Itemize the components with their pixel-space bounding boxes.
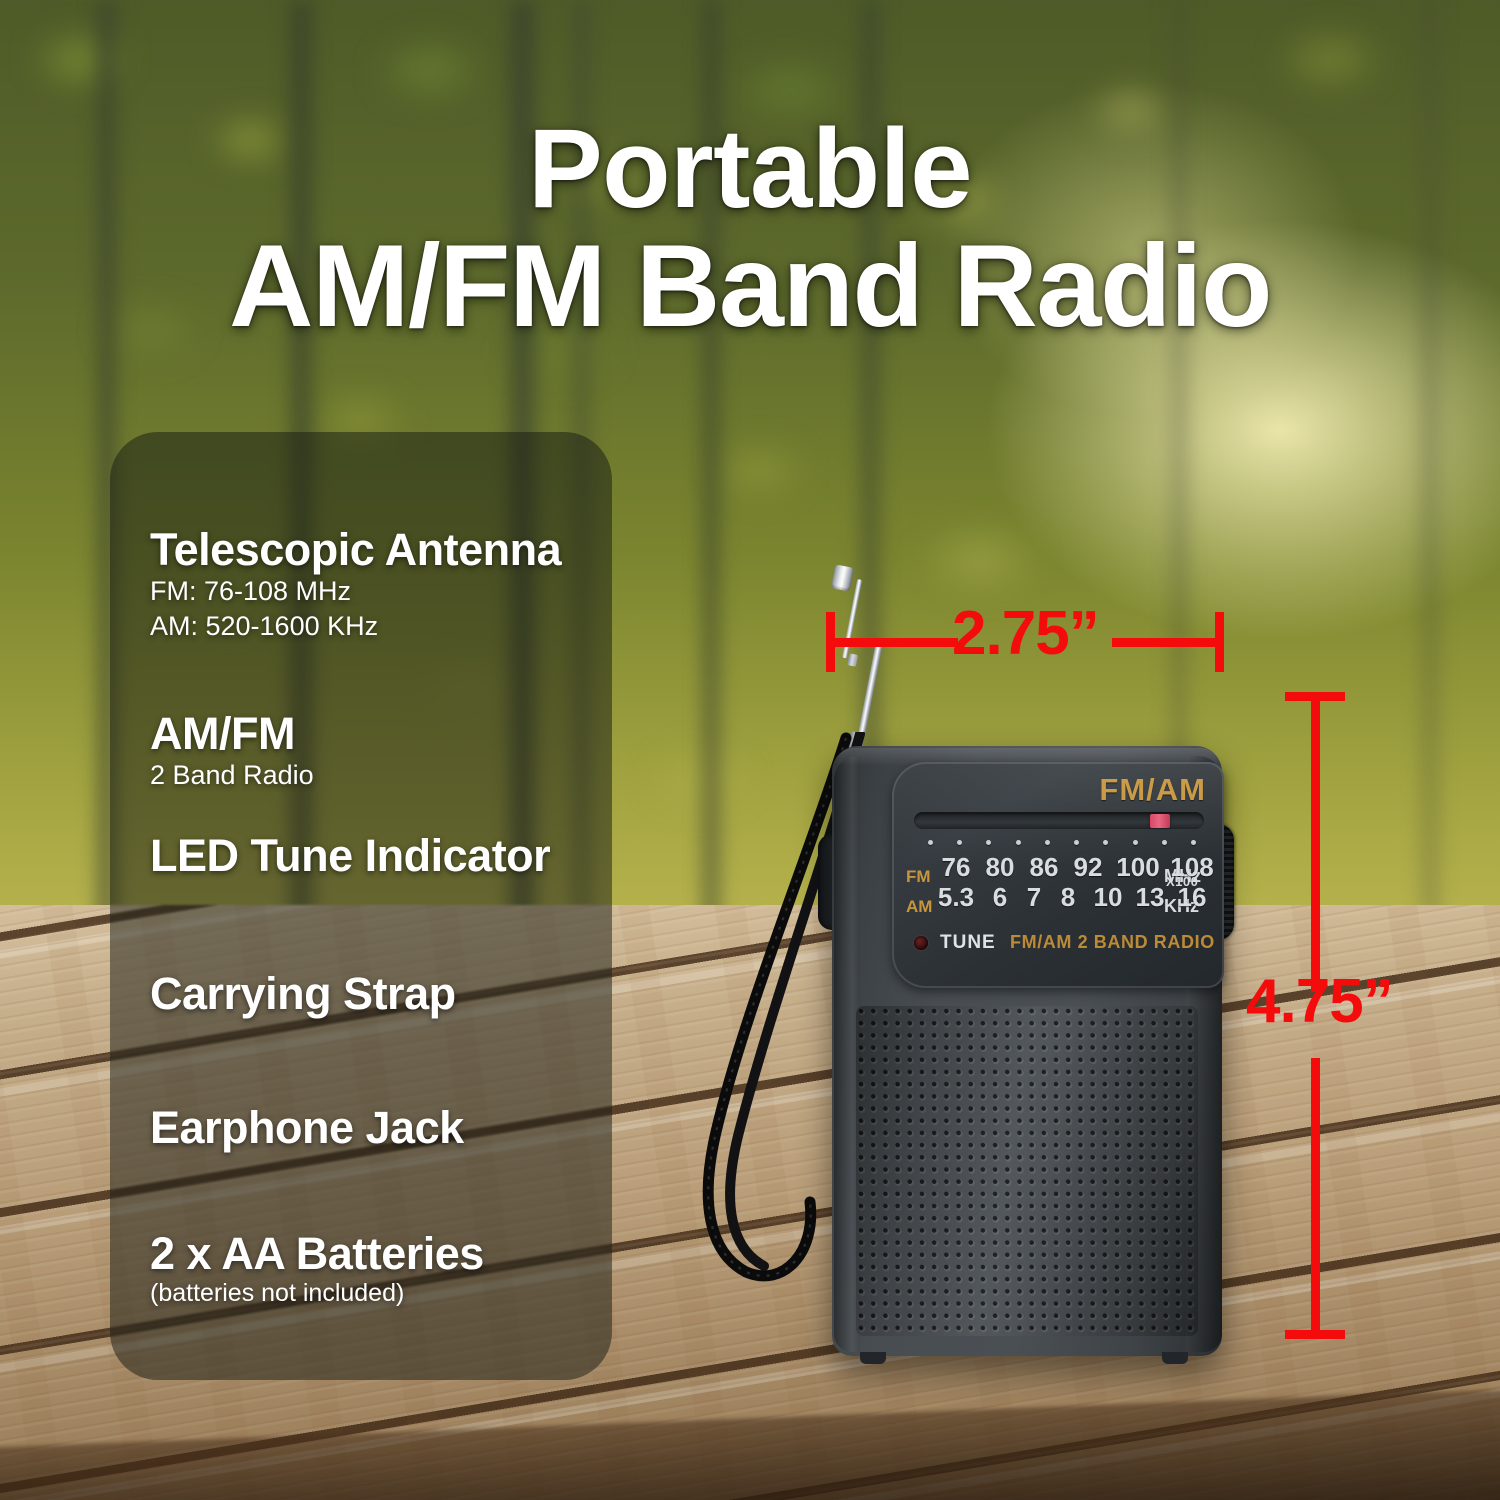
dial-tick-marks [928, 840, 1196, 848]
tune-label: TUNE [940, 932, 996, 954]
scale-value: 8 [1061, 882, 1075, 913]
dial-tick [928, 840, 933, 845]
scale-value: 80 [986, 852, 1015, 883]
model-label: FM/AM 2 BAND RADIO [1010, 932, 1215, 953]
am-scale-values: 5.3678101316 [938, 882, 1160, 912]
width-line-right [1112, 638, 1224, 647]
feature-subtext-batteries-note: (batteries not included) [150, 1278, 484, 1309]
height-line-bottom [1311, 1058, 1320, 1338]
speaker-grille [856, 1006, 1198, 1336]
feature-item-earphone-jack: Earphone Jack [150, 1104, 464, 1152]
am-scale-row: AM 5.3678101316 KHz [906, 882, 1199, 917]
feature-heading: AM/FM [150, 710, 314, 758]
radio-foot-right [1162, 1352, 1188, 1364]
height-line-top [1311, 692, 1320, 992]
scale-value: 92 [1074, 852, 1103, 883]
antenna-tip [831, 564, 854, 591]
width-line-left [826, 638, 958, 647]
scale-value: 13 [1136, 882, 1165, 913]
radio-foot-left [860, 1352, 886, 1364]
brand-label: FM/AM [1099, 772, 1206, 808]
feature-subtext-band-count: 2 Band Radio [150, 758, 314, 793]
scale-value: 16 [1178, 882, 1207, 913]
dial-tick [1133, 840, 1138, 845]
page-title: Portable AM/FM Band Radio [0, 112, 1500, 346]
scale-value: 76 [942, 852, 971, 883]
scale-value: 6 [993, 882, 1007, 913]
feature-heading: Telescopic Antenna [150, 526, 561, 574]
feature-item-am-fm: AM/FM 2 Band Radio [150, 710, 314, 793]
title-line-2: AM/FM Band Radio [0, 226, 1500, 345]
dial-pointer[interactable] [1150, 814, 1170, 828]
feature-item-telescopic-antenna: Telescopic Antenna FM: 76-108 MHz AM: 52… [150, 526, 561, 644]
antenna-joint [847, 653, 858, 666]
dial-tick [1045, 840, 1050, 845]
led-tune-indicator-icon [914, 936, 928, 950]
width-label: 2.75” [952, 598, 1099, 669]
dial-tick [1074, 840, 1079, 845]
feature-heading: Carrying Strap [150, 970, 456, 1018]
dial-tick [957, 840, 962, 845]
dial-tick [1103, 840, 1108, 845]
scale-value: 7 [1027, 882, 1041, 913]
scale-value: 10 [1094, 882, 1123, 913]
feature-heading: Earphone Jack [150, 1104, 464, 1152]
feature-heading: LED Tune Indicator [150, 832, 550, 880]
height-bottom-cap [1285, 1330, 1345, 1339]
dial-tick [1191, 840, 1196, 845]
dial-tick [1162, 840, 1167, 845]
feature-heading: 2 x AA Batteries [150, 1230, 484, 1278]
tune-indicator-group: TUNE [914, 932, 996, 954]
scale-value: 100 [1116, 852, 1159, 883]
height-label: 4.75” [1246, 966, 1393, 1037]
feature-panel: Telescopic Antenna FM: 76-108 MHz AM: 52… [110, 432, 612, 1380]
scale-value: 86 [1030, 852, 1059, 883]
dial-tick [986, 840, 991, 845]
scale-value: 5.3 [938, 882, 974, 913]
fm-scale-values: 76808692100108 [938, 852, 1160, 882]
width-right-cap [1215, 612, 1224, 672]
feature-subtext-fm-range: FM: 76-108 MHz [150, 574, 561, 609]
feature-item-carrying-strap: Carrying Strap [150, 970, 456, 1018]
title-line-1: Portable [528, 106, 972, 231]
dial-tick [1016, 840, 1021, 845]
am-band-label: AM [906, 897, 938, 917]
feature-item-led-tune-indicator: LED Tune Indicator [150, 832, 550, 880]
product-radio: FM/AM FM 76808692100108 MHz X100 AM 5.36… [800, 556, 1260, 1356]
feature-item-batteries: 2 x AA Batteries (batteries not included… [150, 1230, 484, 1309]
feature-subtext-am-range: AM: 520-1600 KHz [150, 609, 561, 644]
dial-faceplate: FM/AM FM 76808692100108 MHz X100 AM 5.36… [892, 762, 1224, 988]
